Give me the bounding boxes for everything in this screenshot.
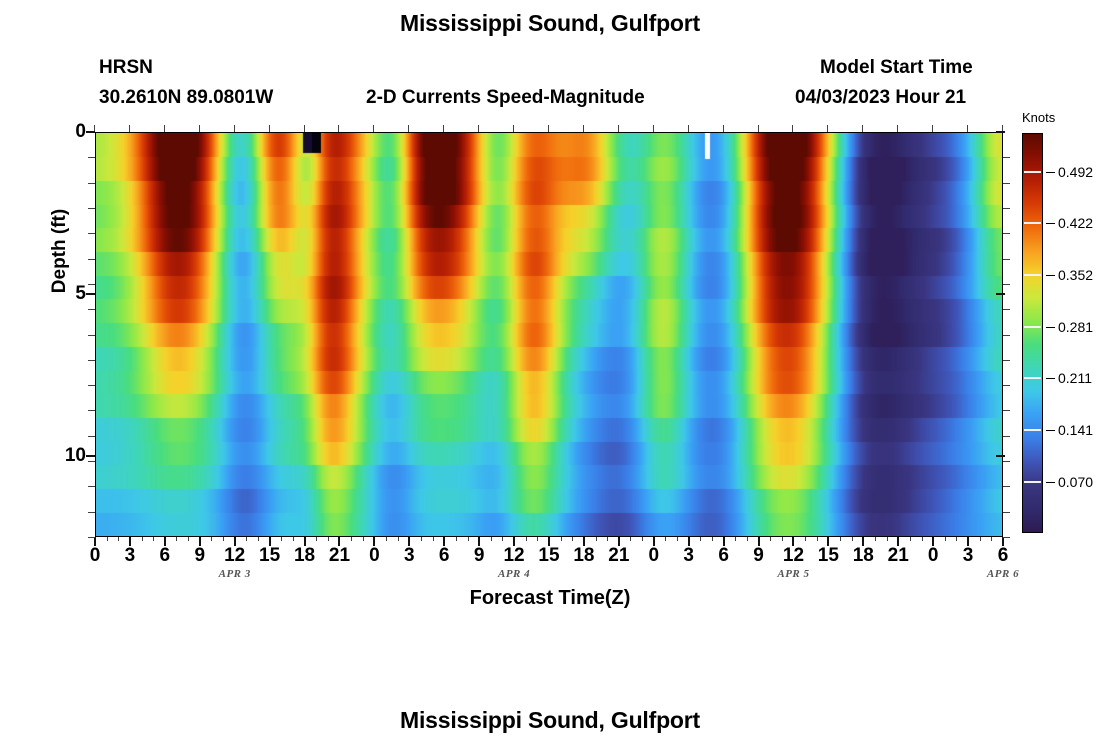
y-axis-tick-label: 10 xyxy=(65,445,86,467)
x-axis-minor-tick xyxy=(537,537,538,541)
colorbar-unit-label: Knots xyxy=(1022,110,1055,125)
x-axis-tick xyxy=(129,125,130,132)
y-axis-minor-tick xyxy=(1003,259,1010,260)
y-axis-minor-tick xyxy=(88,157,95,158)
x-axis-minor-tick xyxy=(491,537,492,541)
x-axis-minor-tick xyxy=(211,537,212,541)
x-axis-tick xyxy=(234,125,235,132)
x-axis-minor-tick xyxy=(456,537,457,541)
colorbar-tick-leader xyxy=(1046,172,1055,173)
x-axis-tick-label: 12 xyxy=(783,545,804,567)
x-axis-tick xyxy=(408,125,409,132)
x-axis-day-label: APR 4 xyxy=(498,568,530,580)
y-axis-minor-tick xyxy=(88,233,95,234)
y-axis-minor-tick xyxy=(88,309,95,310)
x-axis-tick xyxy=(583,125,584,132)
x-axis-minor-tick xyxy=(956,537,957,541)
x-axis-minor-tick xyxy=(142,537,143,541)
y-axis-minor-tick xyxy=(88,259,95,260)
x-axis-tick-label: 0 xyxy=(369,545,380,567)
x-axis-minor-tick xyxy=(572,537,573,541)
x-axis-minor-tick xyxy=(642,537,643,541)
x-axis-tick-label: 15 xyxy=(818,545,839,567)
colorbar xyxy=(1022,133,1043,533)
colorbar-tick-leader xyxy=(1046,223,1055,224)
model-start-time-value: 04/03/2023 Hour 21 xyxy=(795,87,966,109)
x-axis-minor-tick xyxy=(607,537,608,541)
x-axis-title: Forecast Time(Z) xyxy=(0,587,1100,610)
x-axis-minor-tick xyxy=(363,537,364,541)
y-axis-minor-tick xyxy=(1003,233,1010,234)
y-axis-minor-tick xyxy=(88,385,95,386)
x-axis-tick xyxy=(862,125,863,132)
page-title: Mississippi Sound, Gulfport xyxy=(0,10,1100,37)
y-axis-minor-tick xyxy=(88,461,95,462)
x-axis-tick xyxy=(932,125,933,132)
x-axis-tick xyxy=(897,125,898,132)
x-axis-minor-tick xyxy=(188,537,189,541)
x-axis-minor-tick xyxy=(980,537,981,541)
x-axis-tick-label: 21 xyxy=(888,545,909,567)
x-axis-minor-tick xyxy=(805,537,806,541)
x-axis-day-label: APR 5 xyxy=(777,568,809,580)
x-axis-tick-label: 3 xyxy=(683,545,694,567)
y-axis-minor-tick xyxy=(1003,512,1010,513)
y-axis-tick xyxy=(996,131,1005,133)
x-axis-tick xyxy=(269,125,270,132)
y-axis-minor-tick xyxy=(1003,410,1010,411)
x-axis-day-label: APR 3 xyxy=(219,568,251,580)
x-axis-minor-tick xyxy=(712,537,713,541)
y-axis-minor-tick xyxy=(1003,537,1010,538)
x-axis-tick-label: 12 xyxy=(503,545,524,567)
x-axis-tick xyxy=(758,125,759,132)
x-axis-minor-tick xyxy=(293,537,294,541)
x-axis-tick xyxy=(373,125,374,132)
x-axis-tick-label: 21 xyxy=(329,545,350,567)
colorbar-tick-label: 0.070 xyxy=(1058,474,1093,490)
x-axis-minor-tick xyxy=(910,537,911,541)
x-axis-tick xyxy=(304,125,305,132)
x-axis-minor-tick xyxy=(176,537,177,541)
y-axis-minor-tick xyxy=(88,335,95,336)
station-id: HRSN xyxy=(99,57,153,79)
x-axis-tick xyxy=(723,125,724,132)
y-axis-tick xyxy=(86,455,95,457)
x-axis-minor-tick xyxy=(735,537,736,541)
x-axis-tick-label: 15 xyxy=(259,545,280,567)
colorbar-tick-label: 0.352 xyxy=(1058,267,1093,283)
y-axis-tick xyxy=(86,293,95,295)
y-axis-minor-tick xyxy=(1003,436,1010,437)
colorbar-tick-dash xyxy=(1024,377,1041,379)
x-axis-tick-label: 18 xyxy=(294,545,315,567)
colorbar-tick-label: 0.211 xyxy=(1058,370,1092,386)
x-axis-tick-label: 3 xyxy=(963,545,974,567)
x-axis-minor-tick xyxy=(665,537,666,541)
x-axis-minor-tick xyxy=(433,537,434,541)
colorbar-tick-dash xyxy=(1024,326,1041,328)
colorbar-gradient xyxy=(1023,134,1042,532)
x-axis-minor-tick xyxy=(700,537,701,541)
x-axis-tick-label: 0 xyxy=(648,545,659,567)
colorbar-tick-leader xyxy=(1046,430,1055,431)
x-axis-minor-tick xyxy=(991,537,992,541)
y-axis-minor-tick xyxy=(1003,157,1010,158)
x-axis-tick xyxy=(967,125,968,132)
y-axis-minor-tick xyxy=(88,537,95,538)
x-axis-minor-tick xyxy=(770,537,771,541)
x-axis-tick xyxy=(338,125,339,132)
x-axis-tick-label: 9 xyxy=(194,545,205,567)
x-axis-minor-tick xyxy=(526,537,527,541)
y-axis-tick xyxy=(86,131,95,133)
model-start-time-label: Model Start Time xyxy=(820,57,973,79)
x-axis-tick xyxy=(688,125,689,132)
y-axis-minor-tick xyxy=(1003,284,1010,285)
x-axis-tick-label: 18 xyxy=(853,545,874,567)
x-axis-minor-tick xyxy=(153,537,154,541)
y-axis-minor-tick xyxy=(88,512,95,513)
x-axis-tick-label: 0 xyxy=(90,545,101,567)
x-axis-tick-label: 15 xyxy=(538,545,559,567)
x-axis-tick xyxy=(478,125,479,132)
y-axis-minor-tick xyxy=(88,183,95,184)
y-axis-minor-tick xyxy=(1003,461,1010,462)
x-axis-minor-tick xyxy=(351,537,352,541)
y-axis-minor-tick xyxy=(88,208,95,209)
chart-subtitle: 2-D Currents Speed-Magnitude xyxy=(366,87,645,109)
y-axis-minor-tick xyxy=(88,360,95,361)
x-axis-tick xyxy=(653,125,654,132)
x-axis-tick-label: 0 xyxy=(928,545,939,567)
x-axis-minor-tick xyxy=(782,537,783,541)
heatmap-canvas xyxy=(96,133,1002,536)
x-axis-minor-tick xyxy=(281,537,282,541)
y-axis-minor-tick xyxy=(88,284,95,285)
x-axis-tick-label: 6 xyxy=(998,545,1009,567)
x-axis-tick-label: 6 xyxy=(718,545,729,567)
x-axis-tick-label: 9 xyxy=(474,545,485,567)
x-axis-tick-label: 12 xyxy=(224,545,245,567)
colorbar-tick-leader xyxy=(1046,275,1055,276)
station-coordinates: 30.2610N 89.0801W xyxy=(99,87,273,109)
bottom-title: Mississippi Sound, Gulfport xyxy=(0,707,1100,734)
x-axis-minor-tick xyxy=(840,537,841,541)
colorbar-tick-dash xyxy=(1024,274,1041,276)
x-axis-minor-tick xyxy=(630,537,631,541)
x-axis-day-label: APR 6 xyxy=(987,568,1019,580)
y-axis-minor-tick xyxy=(88,436,95,437)
x-axis-tick-label: 18 xyxy=(573,545,594,567)
x-axis-minor-tick xyxy=(107,537,108,541)
colorbar-tick-label: 0.492 xyxy=(1058,164,1093,180)
x-axis-tick xyxy=(618,125,619,132)
y-axis-minor-tick xyxy=(1003,385,1010,386)
y-axis-tick xyxy=(996,455,1005,457)
y-axis-minor-tick xyxy=(1003,335,1010,336)
x-axis-minor-tick xyxy=(747,537,748,541)
x-axis-tick xyxy=(548,125,549,132)
x-axis-minor-tick xyxy=(561,537,562,541)
colorbar-tick-leader xyxy=(1046,482,1055,483)
colorbar-tick-label: 0.422 xyxy=(1058,215,1093,231)
x-axis-minor-tick xyxy=(386,537,387,541)
x-axis-tick-label: 21 xyxy=(608,545,629,567)
x-axis-tick xyxy=(792,125,793,132)
colorbar-tick-label: 0.281 xyxy=(1058,319,1093,335)
x-axis-tick xyxy=(827,125,828,132)
x-axis-minor-tick xyxy=(468,537,469,541)
x-axis-tick-label: 3 xyxy=(125,545,136,567)
x-axis-minor-tick xyxy=(887,537,888,541)
x-axis-minor-tick xyxy=(316,537,317,541)
x-axis-minor-tick xyxy=(223,537,224,541)
x-axis-minor-tick xyxy=(875,537,876,541)
x-axis-minor-tick xyxy=(502,537,503,541)
x-axis-tick-label: 9 xyxy=(753,545,764,567)
y-axis-minor-tick xyxy=(1003,486,1010,487)
colorbar-tick-dash xyxy=(1024,481,1041,483)
colorbar-tick-dash xyxy=(1024,222,1041,224)
x-axis-minor-tick xyxy=(945,537,946,541)
y-axis-tick-label: 0 xyxy=(75,121,86,143)
colorbar-tick-dash xyxy=(1024,429,1041,431)
x-axis-tick xyxy=(199,125,200,132)
x-axis-minor-tick xyxy=(852,537,853,541)
y-axis-minor-tick xyxy=(1003,360,1010,361)
x-axis-tick-label: 3 xyxy=(404,545,415,567)
x-axis-minor-tick xyxy=(596,537,597,541)
colorbar-tick-leader xyxy=(1046,378,1055,379)
x-axis-tick-label: 6 xyxy=(439,545,450,567)
x-axis-tick xyxy=(164,125,165,132)
x-axis-tick xyxy=(443,125,444,132)
y-axis-minor-tick xyxy=(88,410,95,411)
heatmap-plot-area xyxy=(95,132,1003,537)
y-axis-minor-tick xyxy=(1003,309,1010,310)
x-axis-minor-tick xyxy=(398,537,399,541)
y-axis-minor-tick xyxy=(1003,208,1010,209)
colorbar-tick-label: 0.141 xyxy=(1058,422,1093,438)
y-axis-tick xyxy=(996,293,1005,295)
x-axis-minor-tick xyxy=(922,537,923,541)
x-axis-minor-tick xyxy=(246,537,247,541)
colorbar-tick-dash xyxy=(1024,171,1041,173)
y-axis-title: Depth (ft) xyxy=(49,171,71,331)
x-axis-tick xyxy=(513,125,514,132)
y-axis-tick-label: 5 xyxy=(75,283,86,305)
colorbar-tick-leader xyxy=(1046,327,1055,328)
x-axis-minor-tick xyxy=(677,537,678,541)
x-axis-minor-tick xyxy=(118,537,119,541)
y-axis-minor-tick xyxy=(1003,183,1010,184)
x-axis-minor-tick xyxy=(328,537,329,541)
x-axis-tick-label: 6 xyxy=(160,545,171,567)
x-axis-minor-tick xyxy=(258,537,259,541)
y-axis-minor-tick xyxy=(88,486,95,487)
x-axis-minor-tick xyxy=(421,537,422,541)
x-axis-minor-tick xyxy=(817,537,818,541)
